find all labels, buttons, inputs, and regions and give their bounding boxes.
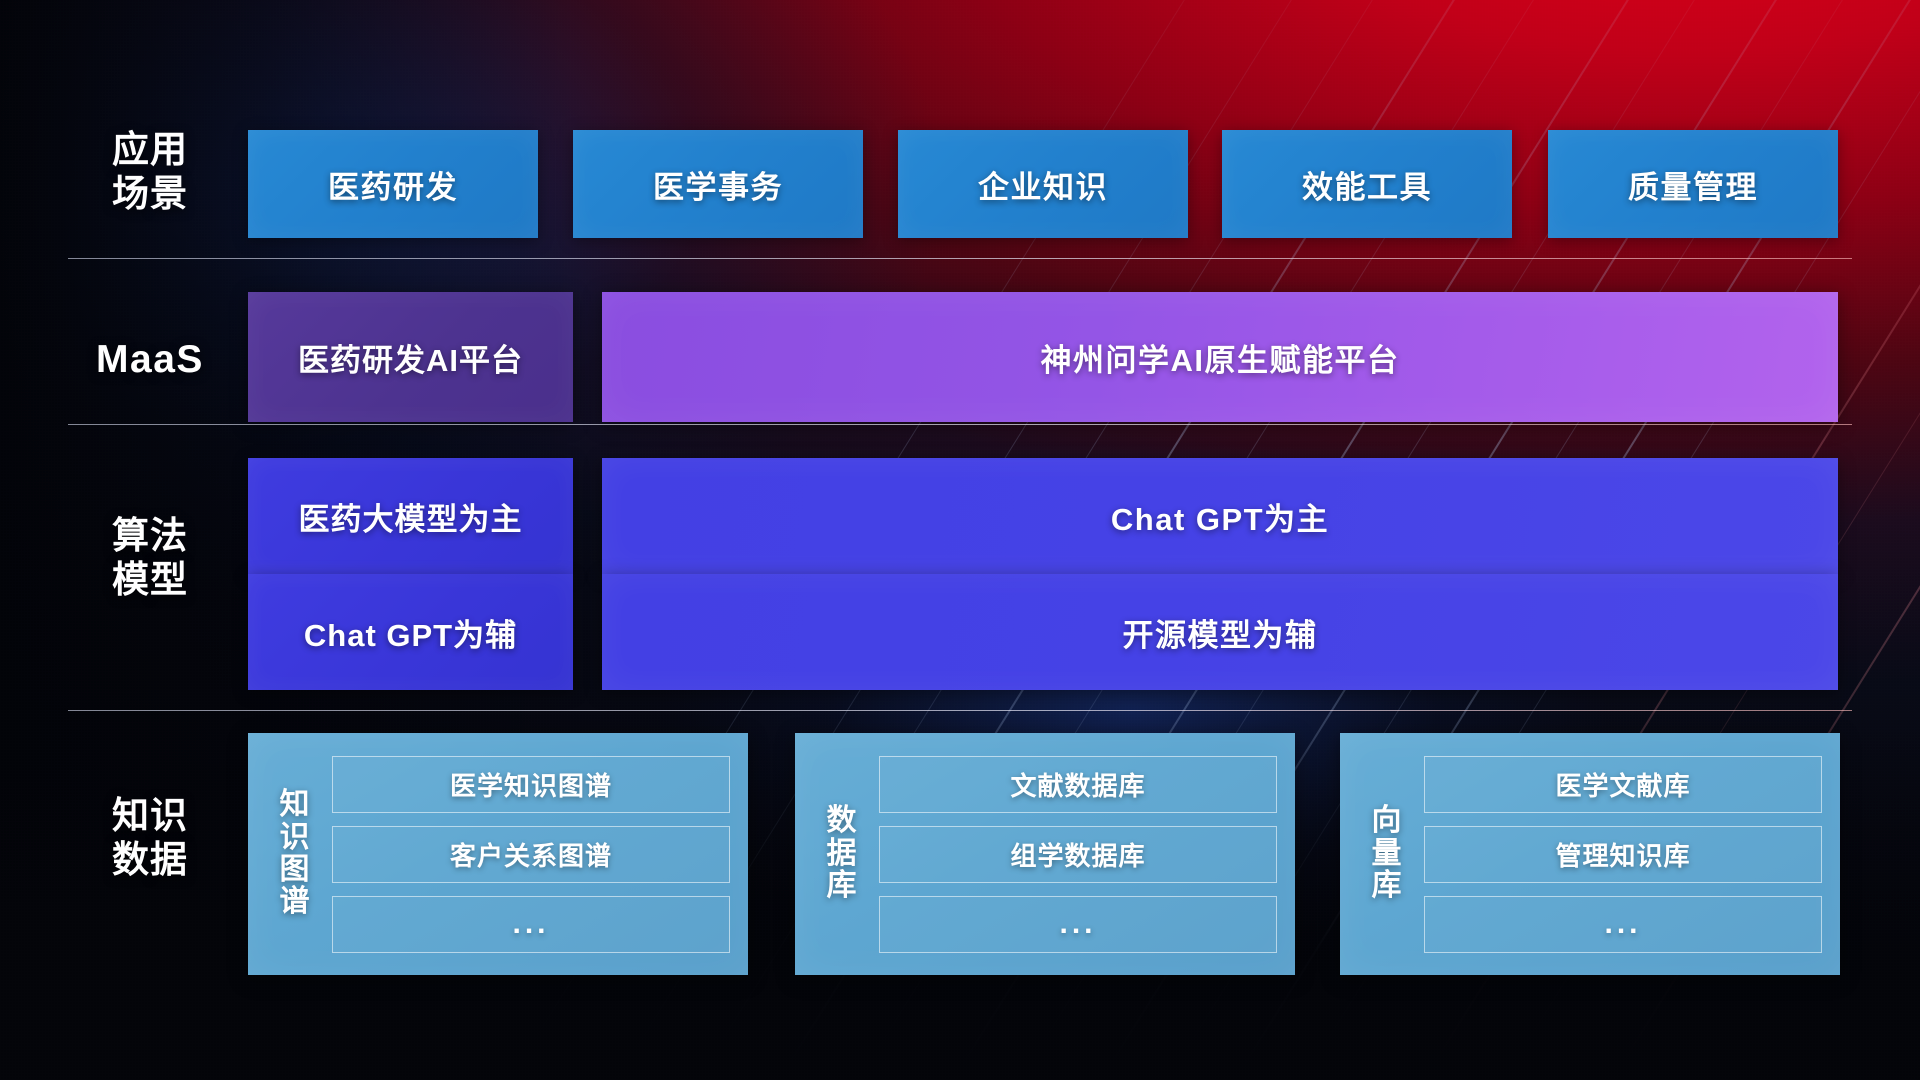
row-label-line: 知识 — [92, 794, 208, 838]
maas-platform-label: 医药研发AI平台 — [298, 335, 523, 380]
knowledge-card-item-list: 医学文献库 管理知识库 ... — [1424, 756, 1826, 953]
knowledge-card-knowledge-graph[interactable]: 知 识 图 谱 医学知识图谱 客户关系图谱 ... — [248, 733, 748, 975]
knowledge-card-item[interactable]: 医学文献库 — [1424, 756, 1822, 813]
knowledge-card-item[interactable]: 管理知识库 — [1424, 826, 1822, 883]
knowledge-card-item[interactable]: 组学数据库 — [879, 826, 1277, 883]
app-scenario-label: 质量管理 — [1628, 162, 1758, 207]
knowledge-card-title-char: 库 — [805, 870, 879, 902]
knowledge-card-title-char: 图 — [258, 854, 332, 886]
knowledge-card-database[interactable]: 数 据 库 文献数据库 组学数据库 ... — [795, 733, 1295, 975]
knowledge-card-item[interactable]: 文献数据库 — [879, 756, 1277, 813]
row-label-line: 应用 — [92, 128, 208, 172]
app-scenario-box-2[interactable]: 医学事务 — [573, 130, 863, 238]
diagram-stage: 应用 场景 医药研发 医学事务 企业知识 效能工具 质量管理 MaaS 医药研发… — [0, 0, 1920, 1080]
algorithm-box-primary-right[interactable]: Chat GPT为主 — [602, 458, 1838, 574]
row-label-knowledge-data: 知识 数据 — [92, 794, 208, 881]
knowledge-card-item-more[interactable]: ... — [332, 896, 730, 953]
algorithm-box-secondary-left[interactable]: Chat GPT为辅 — [248, 574, 573, 690]
app-scenario-label: 效能工具 — [1302, 162, 1432, 207]
knowledge-card-title-char: 库 — [1350, 870, 1424, 902]
knowledge-card-item[interactable]: 医学知识图谱 — [332, 756, 730, 813]
knowledge-card-title-char: 向 — [1350, 805, 1424, 837]
divider-after-maas — [68, 424, 1852, 425]
knowledge-card-item-list: 医学知识图谱 客户关系图谱 ... — [332, 756, 734, 953]
knowledge-card-title-char: 谱 — [258, 886, 332, 918]
knowledge-card-title: 数 据 库 — [805, 805, 879, 902]
app-scenario-label: 医药研发 — [328, 162, 458, 207]
row-label-line: 数据 — [92, 838, 208, 882]
knowledge-card-title-char: 量 — [1350, 838, 1424, 870]
app-scenario-box-1[interactable]: 医药研发 — [248, 130, 538, 238]
app-scenario-label: 企业知识 — [978, 162, 1108, 207]
knowledge-card-title-char: 知 — [258, 789, 332, 821]
row-label-line: MaaS — [92, 337, 208, 383]
knowledge-card-title: 知 识 图 谱 — [258, 789, 332, 919]
maas-platform-box-left[interactable]: 医药研发AI平台 — [248, 292, 573, 422]
maas-platform-box-right[interactable]: 神州问学AI原生赋能平台 — [602, 292, 1838, 422]
knowledge-card-item-more[interactable]: ... — [879, 896, 1277, 953]
knowledge-card-item-list: 文献数据库 组学数据库 ... — [879, 756, 1281, 953]
divider-after-algorithm-model — [68, 710, 1852, 711]
app-scenario-box-3[interactable]: 企业知识 — [898, 130, 1188, 238]
row-label-maas: MaaS — [92, 337, 208, 383]
knowledge-card-item-more[interactable]: ... — [1424, 896, 1822, 953]
divider-after-application-scenario — [68, 258, 1852, 259]
algorithm-label: Chat GPT为主 — [1111, 494, 1329, 539]
algorithm-label: 开源模型为辅 — [1123, 610, 1318, 655]
app-scenario-box-5[interactable]: 质量管理 — [1548, 130, 1838, 238]
algorithm-box-primary-left[interactable]: 医药大模型为主 — [248, 458, 573, 574]
algorithm-box-secondary-right[interactable]: 开源模型为辅 — [602, 574, 1838, 690]
row-label-algorithm-model: 算法 模型 — [92, 514, 208, 601]
maas-platform-label: 神州问学AI原生赋能平台 — [1041, 335, 1400, 380]
knowledge-card-title-char: 据 — [805, 838, 879, 870]
algorithm-label: 医药大模型为主 — [299, 494, 523, 539]
knowledge-card-vector-store[interactable]: 向 量 库 医学文献库 管理知识库 ... — [1340, 733, 1840, 975]
knowledge-card-title: 向 量 库 — [1350, 805, 1424, 902]
app-scenario-box-4[interactable]: 效能工具 — [1222, 130, 1512, 238]
row-label-application-scenario: 应用 场景 — [92, 128, 208, 215]
knowledge-card-title-char: 数 — [805, 805, 879, 837]
app-scenario-label: 医学事务 — [653, 162, 783, 207]
row-label-line: 场景 — [92, 172, 208, 216]
knowledge-card-title-char: 识 — [258, 822, 332, 854]
row-label-line: 算法 — [92, 514, 208, 558]
algorithm-label: Chat GPT为辅 — [304, 610, 517, 655]
knowledge-card-item[interactable]: 客户关系图谱 — [332, 826, 730, 883]
row-label-line: 模型 — [92, 558, 208, 602]
